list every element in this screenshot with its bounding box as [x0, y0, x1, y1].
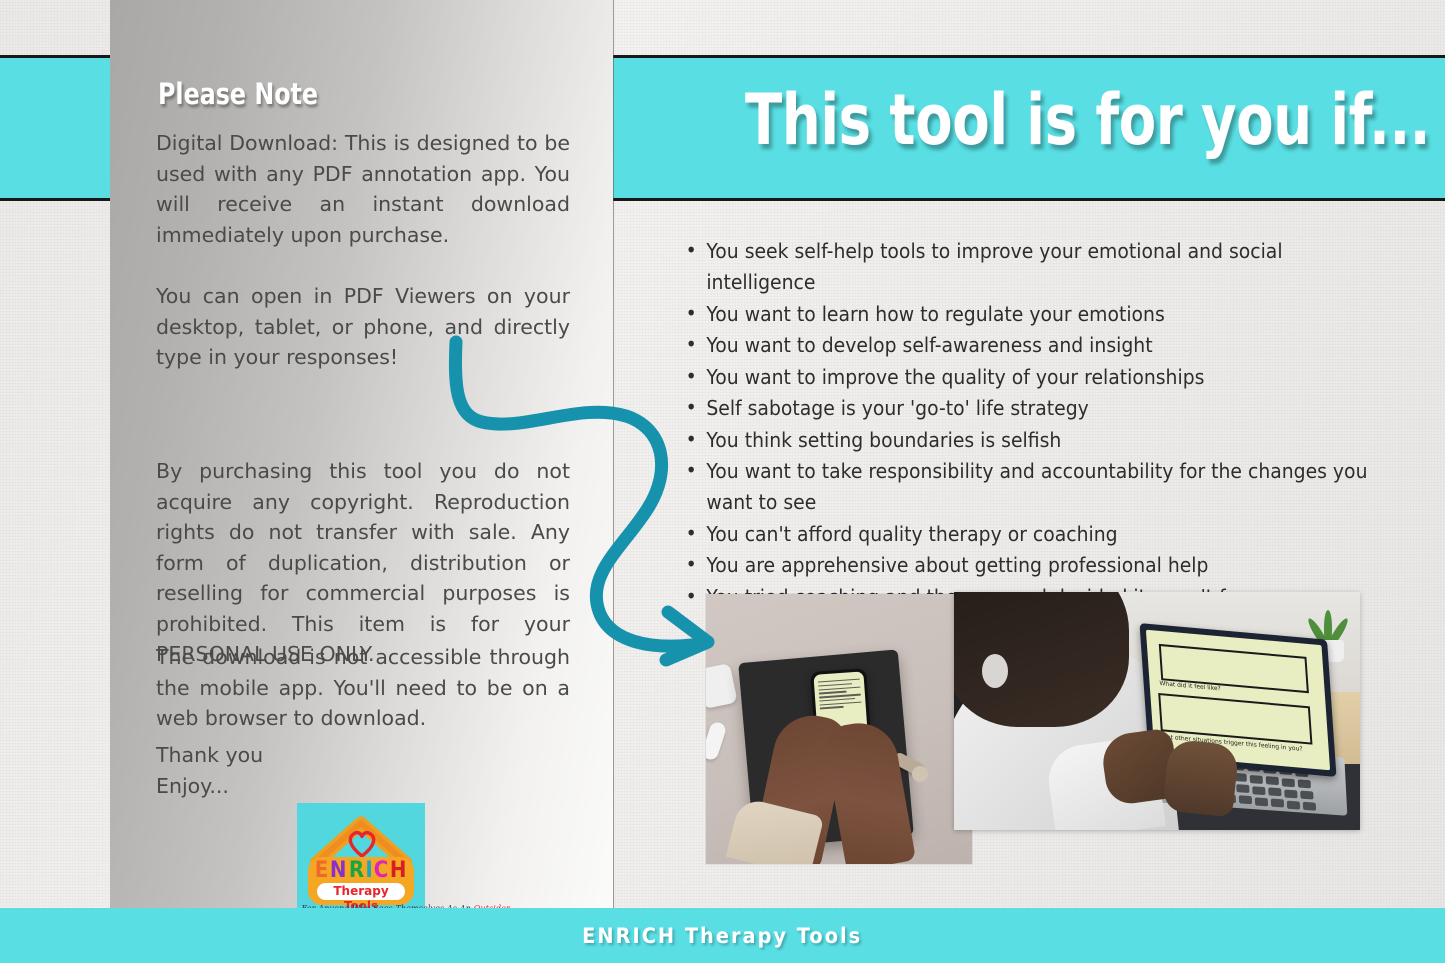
note-paragraph-2: You can open in PDF Viewers on your desk… [156, 281, 570, 373]
list-item: You want to learn how to regulate your e… [680, 299, 1380, 330]
photo-pen-cap [912, 766, 928, 782]
photo-laptop-worksheet: What did it feel like? What other situat… [954, 592, 1360, 830]
logo-letter-h: H [390, 859, 407, 882]
photo-person-earphone [982, 654, 1008, 688]
heart-icon [347, 829, 377, 857]
list-item: You seek self-help tools to improve your… [680, 236, 1380, 298]
list-item: You think setting boundaries is selfish [680, 425, 1380, 456]
note-paragraph-4: The download is not accessible through t… [156, 642, 570, 734]
list-item: You want to develop self-awareness and i… [680, 330, 1380, 361]
logo-brand-letters: ENRICH [308, 859, 414, 882]
logo-letter-e: E [315, 859, 329, 882]
note-paragraph-2-text: You can open in PDF Viewers on your desk… [156, 281, 570, 373]
logo-letter-n: N [330, 859, 347, 882]
logo-name-plate: ENRICH Therapy Tools [308, 857, 414, 905]
note-paragraph-3: By purchasing this tool you do not acqui… [156, 456, 570, 670]
note-signoff-line-1: Thank you [156, 740, 570, 771]
poster-canvas: This tool is for you if... Please Note D… [0, 0, 1445, 963]
list-item: You want to take responsibility and acco… [680, 456, 1380, 518]
photo-person-head [954, 592, 1129, 727]
logo-letter-c: C [374, 859, 389, 882]
list-item: You can't afford quality therapy or coac… [680, 519, 1380, 550]
benefits-list: You seek self-help tools to improve your… [680, 236, 1425, 613]
photo-phone-annotation [706, 594, 972, 864]
footer-brand-text: ENRICH Therapy Tools [0, 908, 1445, 963]
note-paragraph-1-text: Digital Download: This is designed to be… [156, 128, 570, 250]
note-paragraph-3-text: By purchasing this tool you do not acqui… [156, 456, 570, 670]
footer-brand-label: ENRICH Therapy Tools [582, 924, 862, 948]
note-signoff: Thank you Enjoy... [156, 740, 570, 801]
photo-typing-hand-right [1162, 739, 1239, 818]
note-paragraph-1: Digital Download: This is designed to be… [156, 128, 570, 250]
note-paragraph-4-text: The download is not accessible through t… [156, 642, 570, 734]
list-item: Self sabotage is your 'go-to' life strat… [680, 393, 1380, 424]
please-note-heading: Please Note [158, 78, 318, 110]
logo-letter-r: R [349, 859, 364, 882]
page-headline: This tool is for you if... [745, 84, 1430, 156]
note-signoff-line-2: Enjoy... [156, 771, 570, 802]
footer-bar: ENRICH Therapy Tools [0, 908, 1445, 963]
photo-phone-text-lines [818, 679, 862, 712]
logo-subtitle-plate: Therapy Tools [317, 883, 405, 900]
logo-letter-i: I [365, 859, 372, 882]
list-item: You want to improve the quality of your … [680, 362, 1380, 393]
list-item: You are apprehensive about getting profe… [680, 550, 1380, 581]
